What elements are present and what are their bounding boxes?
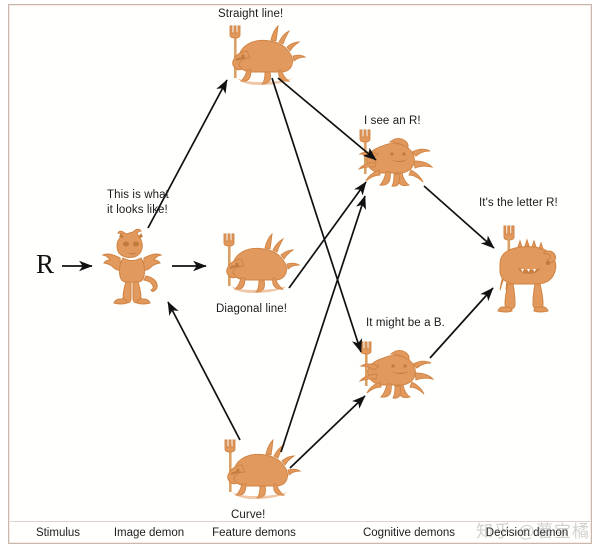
- arrow-curve-to-cognitive-b: [290, 396, 365, 468]
- column-header-divider: [10, 521, 590, 522]
- stimulus-letter: R: [36, 249, 54, 280]
- arrow-diagonal-to-cognitive-r: [289, 182, 366, 288]
- column-header-decision-demon: Decision demon: [486, 527, 568, 539]
- arrow-curve-to-image-demon: [168, 302, 240, 440]
- column-header-stimulus: Stimulus: [36, 527, 80, 539]
- label-curve: Curve!: [231, 508, 265, 522]
- image-demon-figure: [103, 229, 161, 304]
- label-its-the-letter-r: It's the letter R!: [479, 196, 558, 210]
- column-header-image-demon: Image demon: [114, 527, 184, 539]
- label-straight-line: Straight line!: [218, 7, 283, 21]
- decision-demon-figure: [498, 226, 556, 312]
- feature-demon-curve-figure: [225, 440, 300, 499]
- cognitive-demon-b-figure: [360, 342, 433, 398]
- cognitive-demon-r-figure: [359, 130, 432, 186]
- label-i-see-an-r: I see an R!: [364, 114, 421, 128]
- label-it-might-be-a-b: It might be a B.: [366, 316, 445, 330]
- arrow-straight-to-cognitive-r: [278, 78, 376, 160]
- column-header-cognitive-demons: Cognitive demons: [363, 527, 455, 539]
- feature-demon-diagonal-figure: [224, 234, 299, 293]
- diagram-canvas: [0, 0, 600, 556]
- feature-demon-straight-figure: [230, 26, 305, 85]
- label-image-demon-speech-line2: it looks like!: [107, 203, 168, 217]
- column-header-feature-demons: Feature demons: [212, 527, 296, 539]
- label-image-demon-speech-line1: This is what: [107, 188, 169, 202]
- label-diagonal-line: Diagonal line!: [216, 302, 287, 316]
- figure-page: R Straight line! This is what it looks l…: [0, 0, 600, 556]
